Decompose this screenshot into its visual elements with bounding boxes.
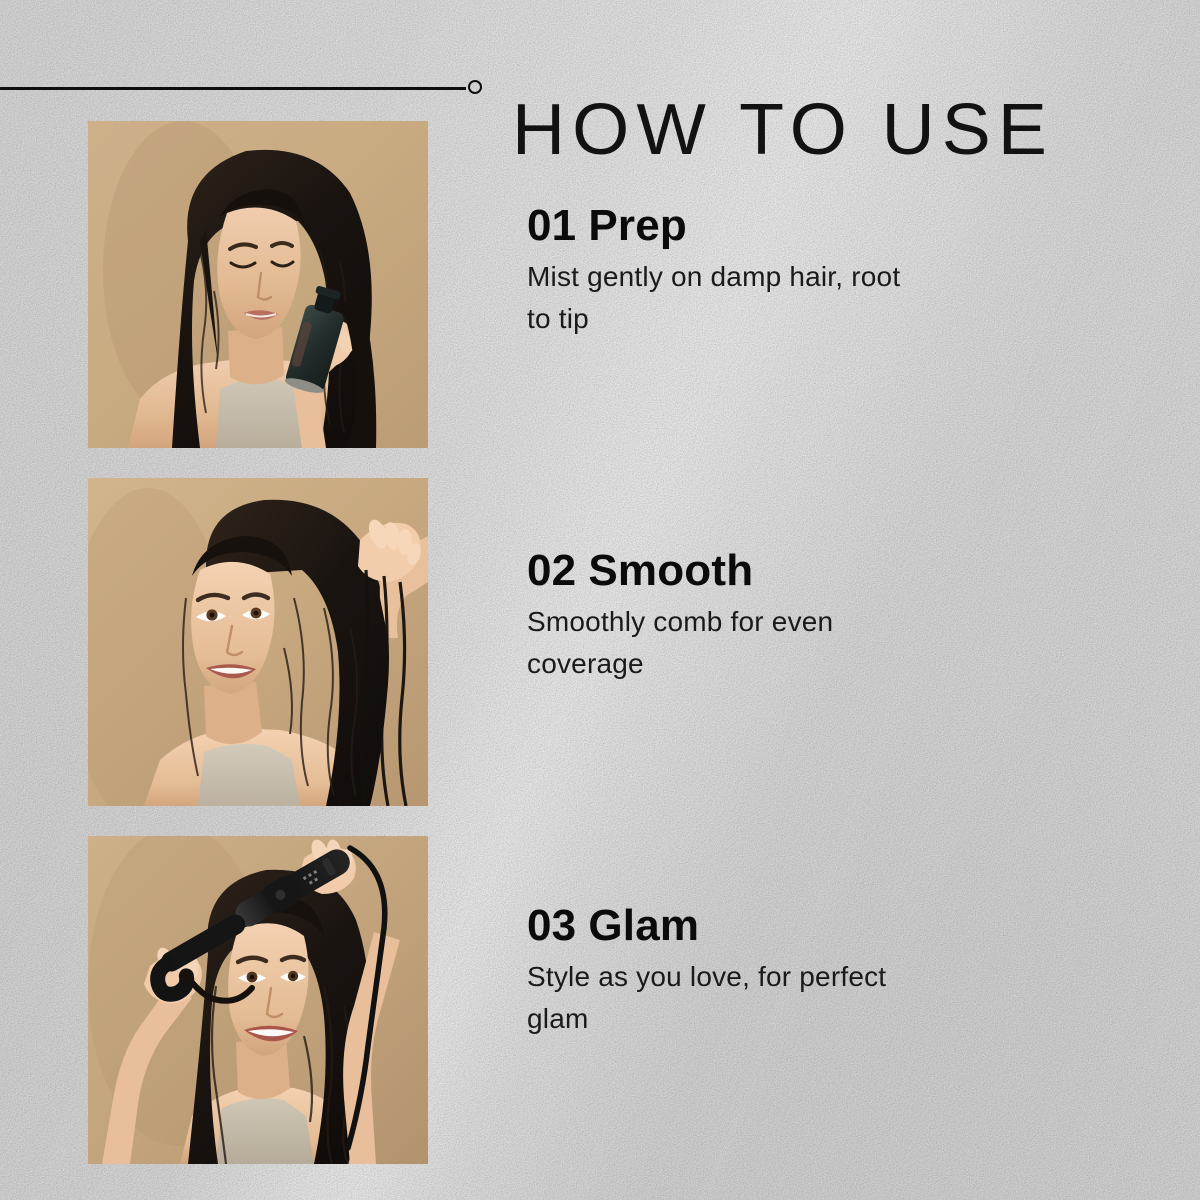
step-2: 02Smooth Smoothly comb for even coverage (527, 548, 947, 686)
horizontal-line-icon (0, 87, 466, 90)
step-2-title: Smooth (588, 546, 753, 595)
step-photo-3 (88, 836, 428, 1164)
step-3-description: Style as you love, for perfect glam (527, 956, 927, 1041)
header-rule (0, 80, 500, 98)
step-1-description: Mist gently on damp hair, root to tip (527, 256, 927, 341)
step-2-number: 02 (527, 546, 576, 595)
step-1: 01Prep Mist gently on damp hair, root to… (527, 203, 947, 341)
circle-terminator-icon (468, 80, 482, 94)
step-3-number: 03 (527, 901, 576, 950)
step-1-title: Prep (588, 201, 687, 250)
step-3: 03Glam Style as you love, for perfect gl… (527, 903, 947, 1041)
step-2-description: Smoothly comb for even coverage (527, 601, 927, 686)
how-to-use-poster: HOW TO USE (0, 0, 1200, 1200)
step-1-number: 01 (527, 201, 576, 250)
step-photo-2 (88, 478, 428, 806)
step-1-heading: 01Prep (527, 203, 947, 250)
page-title: HOW TO USE (512, 94, 1054, 166)
step-photo-1 (88, 121, 428, 448)
step-3-title: Glam (588, 901, 699, 950)
step-2-heading: 02Smooth (527, 548, 947, 595)
step-3-heading: 03Glam (527, 903, 947, 950)
